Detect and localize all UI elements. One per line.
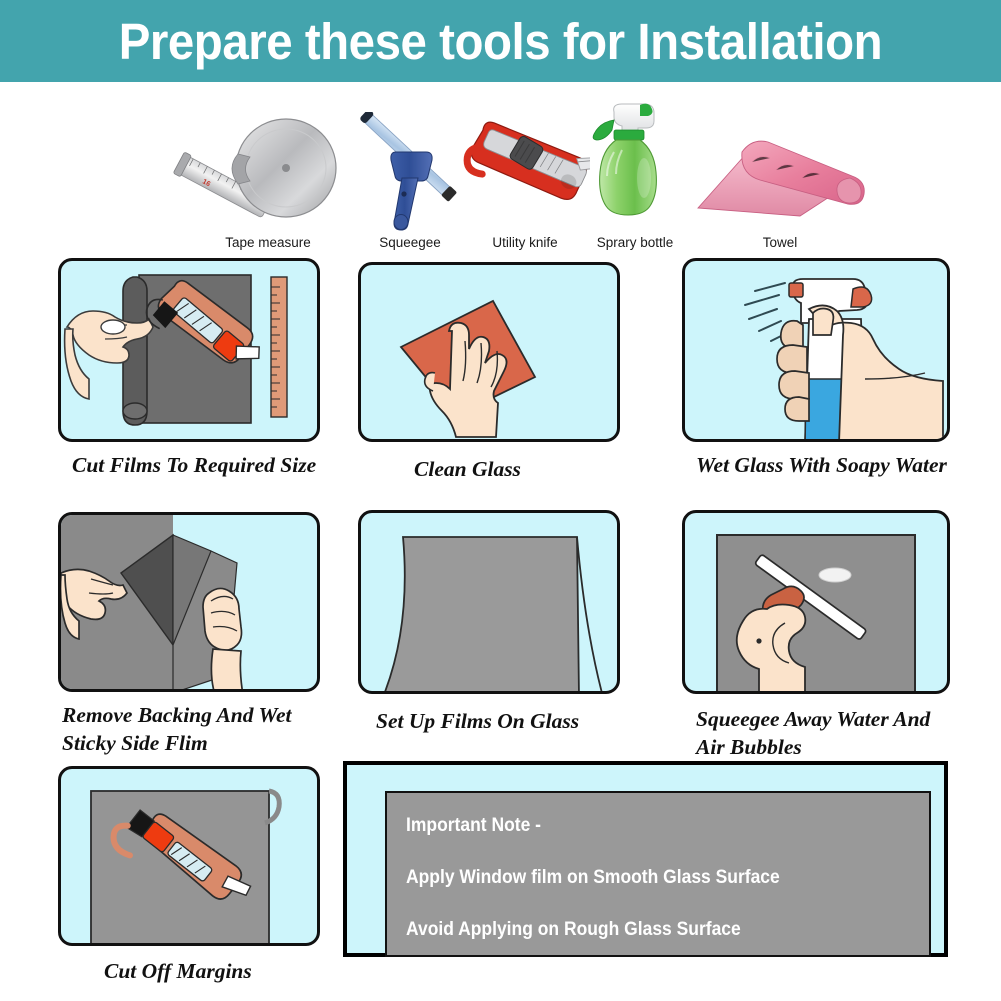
- tool-squeegee: Squeegee: [340, 106, 480, 250]
- tool-label: Tape measure: [225, 235, 311, 250]
- step-illustration-7: [58, 766, 320, 946]
- tool-label: Utility knife: [492, 235, 557, 250]
- step-panel-7: Cut Off Margins: [58, 766, 320, 1001]
- header-banner: Prepare these tools for Installation: [0, 0, 1001, 82]
- step-panel-3: Wet Glass With Soapy Water: [682, 258, 950, 498]
- step-caption-1: Cut Films To Required Size: [72, 452, 322, 480]
- tool-label: Sprary bottle: [597, 235, 674, 250]
- tools-strip: 16 Tape measure: [140, 98, 870, 250]
- step-caption-5: Set Up Films On Glass: [376, 708, 616, 736]
- step-caption-4: Remove Backing And Wet Sticky Side Flim: [62, 702, 334, 757]
- step-panel-4: Remove Backing And Wet Sticky Side Flim: [58, 512, 320, 752]
- step-illustration-3: [682, 258, 950, 442]
- note-line-avoid: Avoid Applying on Rough Glass Surface: [406, 919, 887, 941]
- step-panel-2: Clean Glass: [358, 262, 620, 502]
- tool-towel: Towel: [690, 114, 870, 250]
- step-caption-3: Wet Glass With Soapy Water: [696, 452, 952, 480]
- step-illustration-4: [58, 512, 320, 692]
- note-line-heading: Important Note -: [406, 815, 887, 837]
- step-panel-1: Cut Films To Required Size: [58, 258, 320, 498]
- step-illustration-1: [58, 258, 320, 442]
- tool-label: Towel: [763, 235, 798, 250]
- important-note-box: Important Note - Apply Window film on Sm…: [343, 761, 948, 957]
- step-caption-2: Clean Glass: [414, 456, 614, 484]
- step-caption-6: Squeegee Away Water And Air Bubbles: [696, 706, 958, 761]
- important-note-inner-panel: Important Note - Apply Window film on Sm…: [385, 791, 931, 957]
- tool-spray-bottle: Sprary bottle: [570, 100, 700, 250]
- page-title: Prepare these tools for Installation: [119, 12, 882, 71]
- step-illustration-6: [682, 510, 950, 694]
- note-line-apply: Apply Window film on Smooth Glass Surfac…: [406, 867, 887, 889]
- step-panel-5: Set Up Films On Glass: [358, 510, 620, 750]
- tool-label: Squeegee: [379, 235, 441, 250]
- step-caption-7: Cut Off Margins: [104, 958, 324, 986]
- step-panel-6: Squeegee Away Water And Air Bubbles: [682, 510, 950, 750]
- step-illustration-5: [358, 510, 620, 694]
- step-illustration-2: [358, 262, 620, 442]
- tool-tape-measure: 16 Tape measure: [168, 106, 368, 250]
